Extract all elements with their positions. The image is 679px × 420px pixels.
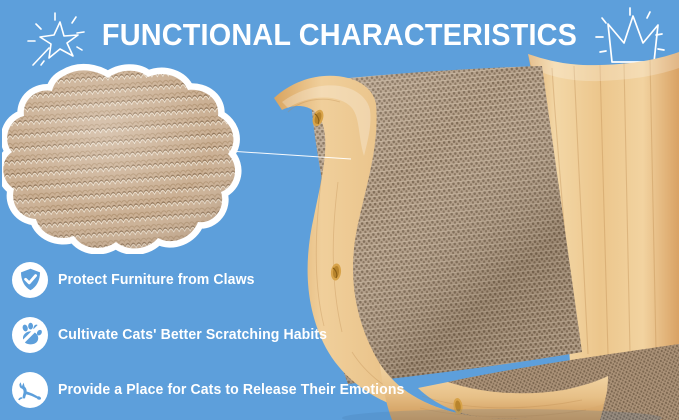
feature-item-release-emotions: Provide a Place for Cats to Release Thei… [12, 362, 432, 417]
no-scratch-paw-icon [12, 317, 48, 353]
functional-characteristics-poster: FUNCTIONAL CHARACTERISTICS Protect Furni… [0, 0, 679, 420]
page-title: FUNCTIONAL CHARACTERISTICS [24, 18, 655, 52]
feature-item-scratching-habits: Cultivate Cats' Better Scratching Habits [12, 307, 432, 362]
feature-label: Protect Furniture from Claws [58, 272, 255, 288]
cardboard-texture-closeup [2, 62, 247, 254]
feature-label: Cultivate Cats' Better Scratching Habits [58, 327, 327, 343]
shield-check-icon [12, 262, 48, 298]
feature-label: Provide a Place for Cats to Release Thei… [58, 382, 404, 398]
feature-list: Protect Furniture from Claws Cultivate C… [12, 252, 432, 417]
feature-item-protect-furniture: Protect Furniture from Claws [12, 252, 432, 307]
stretching-cat-icon [12, 372, 48, 408]
